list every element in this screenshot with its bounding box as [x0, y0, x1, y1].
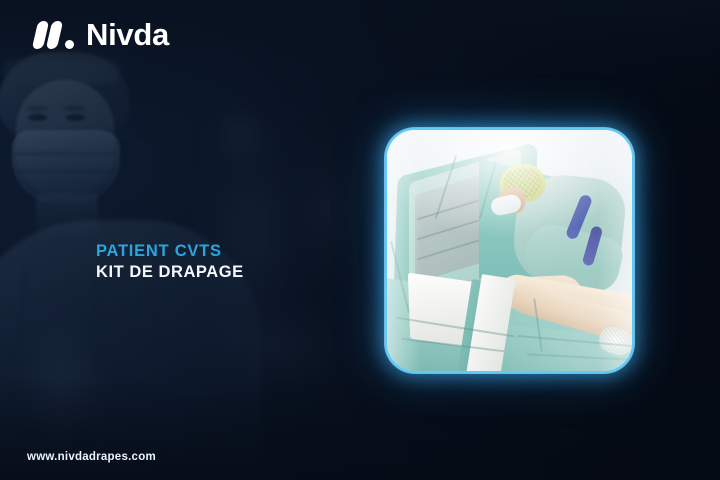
- logo-wordmark: Nivda: [86, 19, 169, 50]
- product-photo: [387, 130, 632, 371]
- logo-bar-right: [46, 21, 63, 49]
- logo-dot: [65, 40, 74, 49]
- headline-line-1: PATIENT CVTS: [96, 241, 244, 262]
- promo-banner: Nivda PATIENT CVTS KIT DE DRAPAGE www.ni…: [0, 0, 720, 480]
- card-frame: [385, 128, 634, 373]
- headline-line-2: KIT DE DRAPAGE: [96, 262, 244, 283]
- product-image-card[interactable]: [385, 128, 634, 373]
- website-url[interactable]: www.nivdadrapes.com: [27, 451, 156, 463]
- brand-logo[interactable]: Nivda: [33, 20, 169, 50]
- headline-block: PATIENT CVTS KIT DE DRAPAGE: [96, 241, 244, 283]
- nivda-mark-icon: [33, 20, 76, 50]
